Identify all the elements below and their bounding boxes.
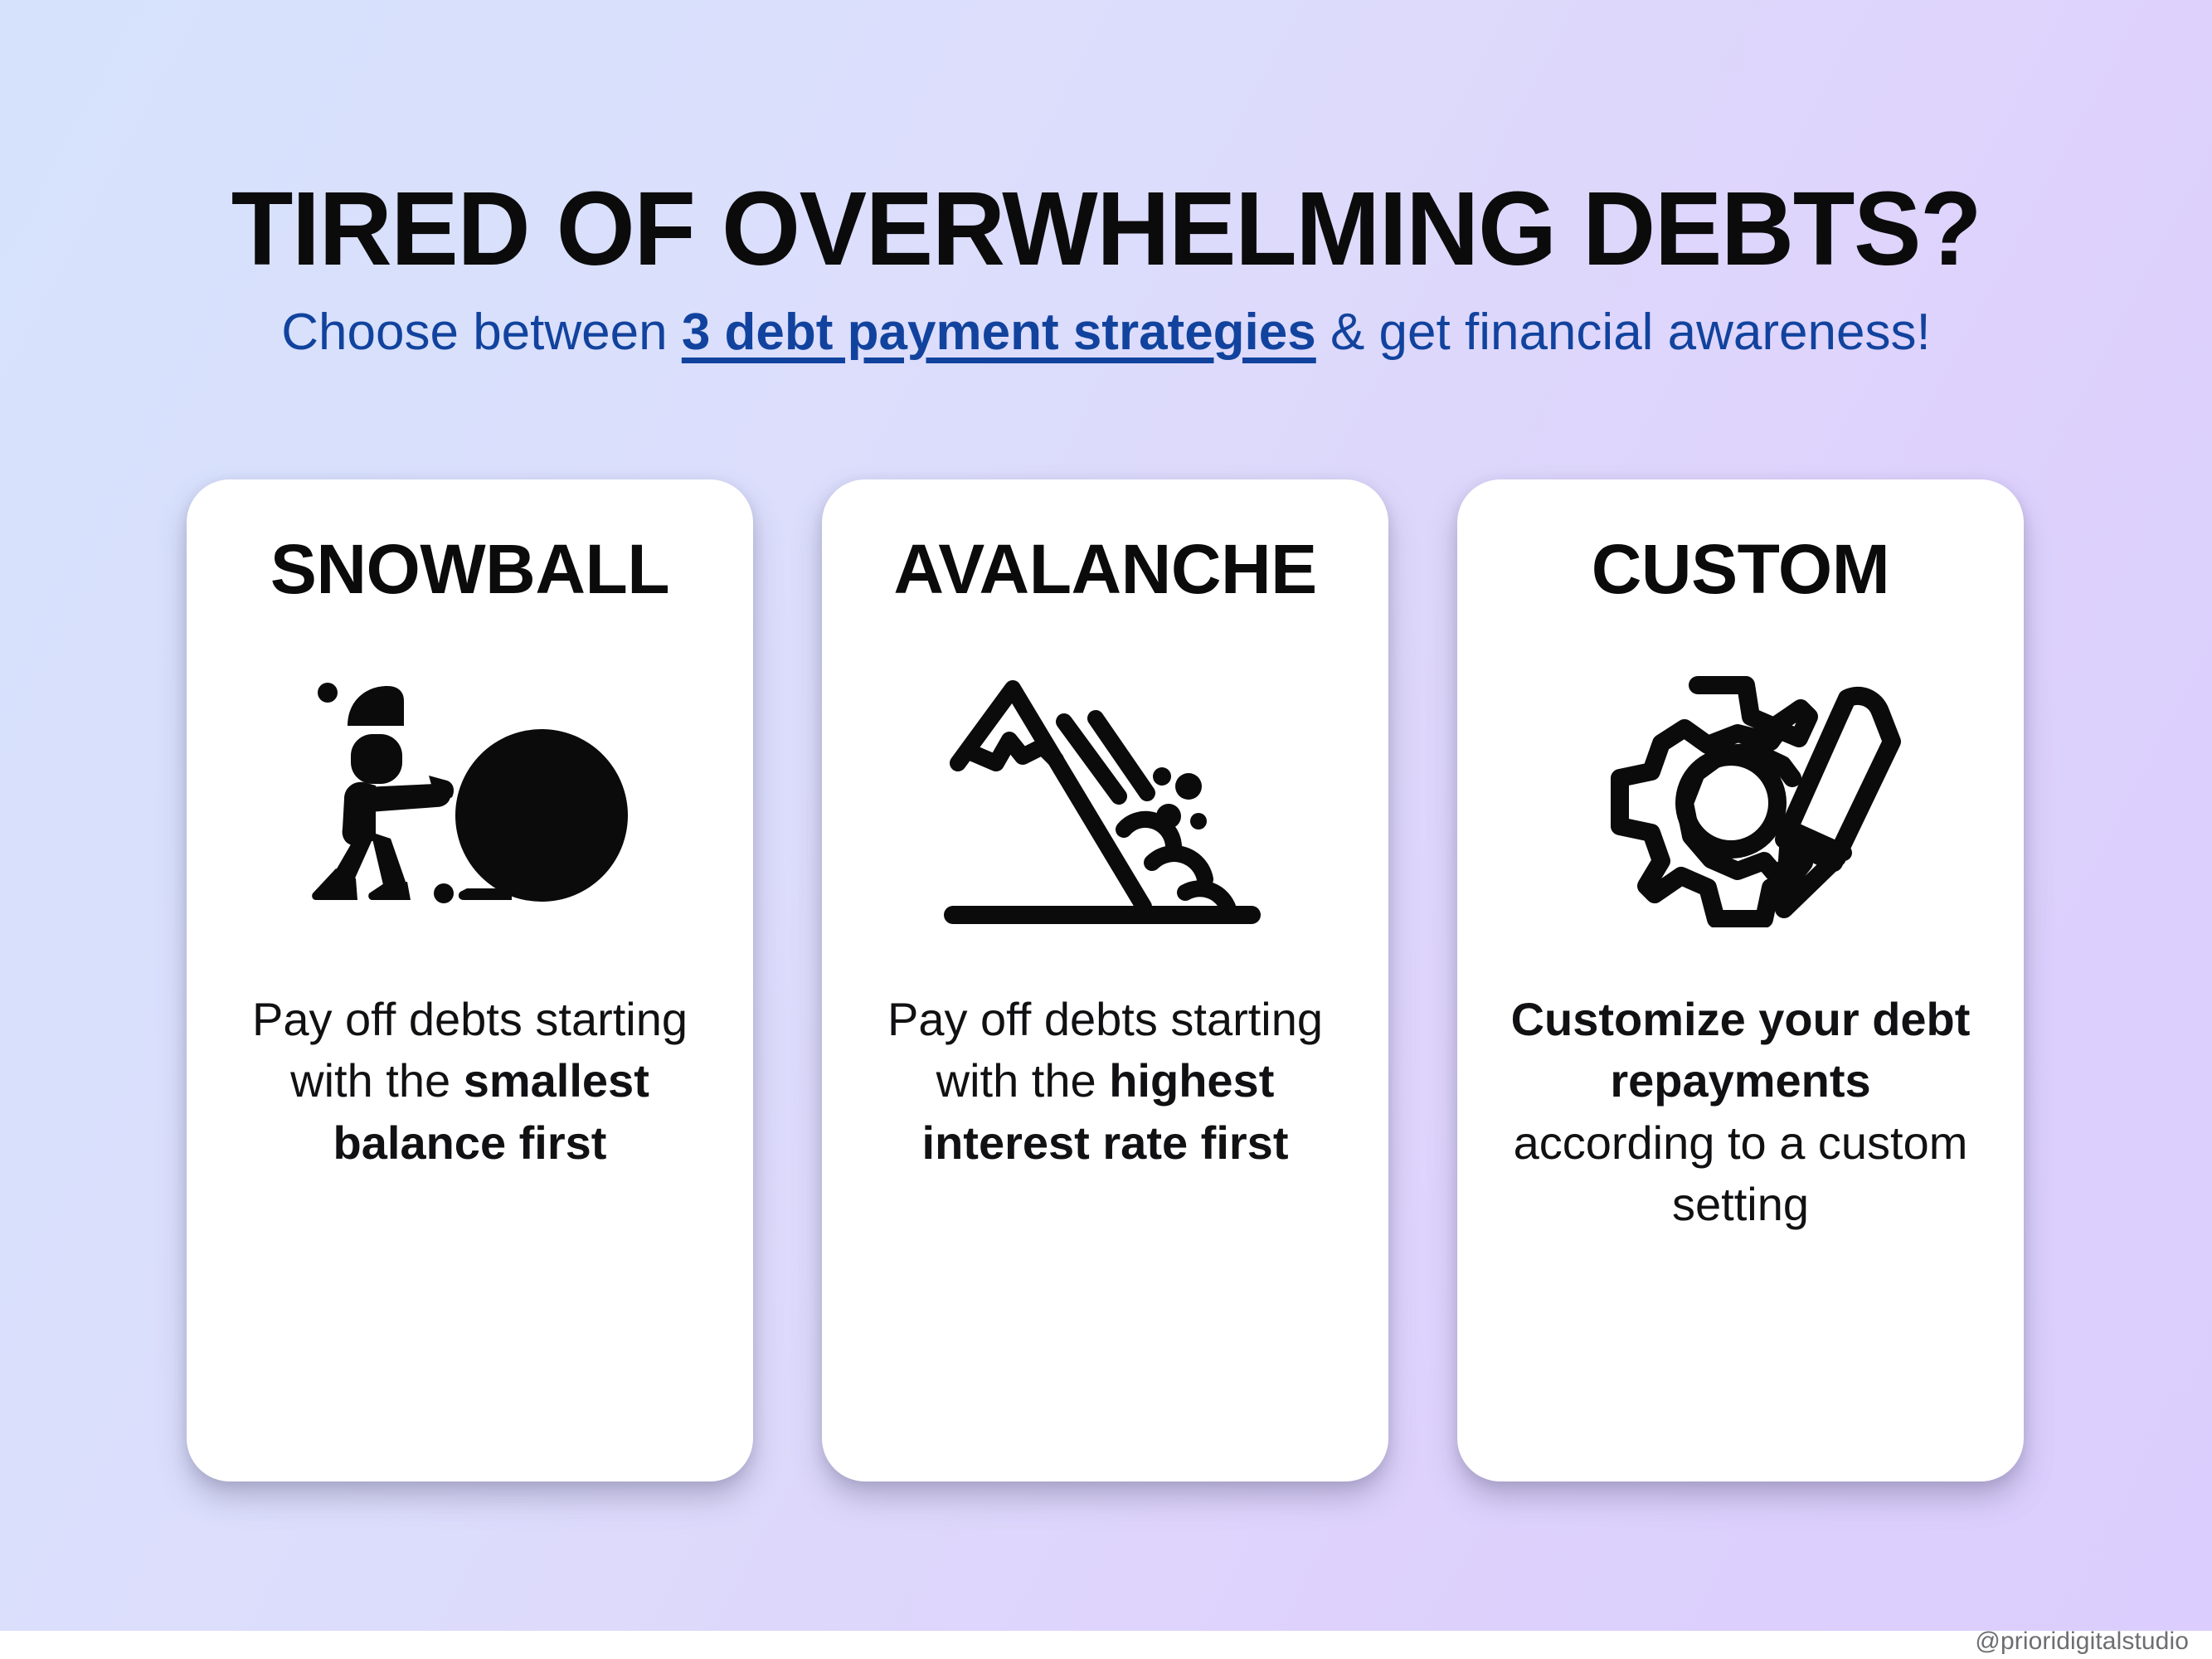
person-pushing-snowball-icon: [292, 654, 649, 944]
card-body-avalanche: Pay off debts starting with the highest …: [873, 989, 1338, 1174]
footer-strip: [0, 1631, 2212, 1659]
card-title-avalanche: AVALANCHE: [893, 534, 1316, 604]
subtitle-text-before: Choose between: [281, 304, 682, 361]
gear-and-pencil-icon: [1563, 654, 1919, 944]
mountain-avalanche-icon: [927, 654, 1284, 944]
strategy-card-custom[interactable]: CUSTOM Customize your debt repayments ac…: [1457, 479, 2024, 1481]
card-title-custom: CUSTOM: [1592, 534, 1889, 604]
subtitle-text-after: & get financial awareness!: [1316, 304, 1931, 361]
watermark-handle: @prioridigitalstudio: [1975, 1627, 2189, 1656]
strategy-card-snowball[interactable]: SNOWBALL: [187, 479, 753, 1481]
card-body-custom: Customize your debt repayments according…: [1509, 989, 1973, 1236]
strategy-card-list: SNOWBALL: [187, 479, 2024, 1481]
card-title-snowball: SNOWBALL: [270, 534, 669, 604]
subtitle-emphasis: 3 debt payment strategies: [682, 304, 1316, 361]
card-body-trail: according to a custom setting: [1514, 1117, 1968, 1230]
page-subtitle: Choose between 3 debt payment strategies…: [227, 300, 1986, 365]
poster-canvas: TIRED OF OVERWHELMING DEBTS? Choose betw…: [0, 0, 2212, 1659]
page-title: TIRED OF OVERWHELMING DEBTS?: [33, 176, 2179, 283]
card-body-snowball: Pay off debts starting with the smallest…: [238, 989, 702, 1174]
strategy-card-avalanche[interactable]: AVALANCHE: [822, 479, 1388, 1481]
card-body-emphasis: Customize your debt repayments: [1511, 993, 1971, 1107]
